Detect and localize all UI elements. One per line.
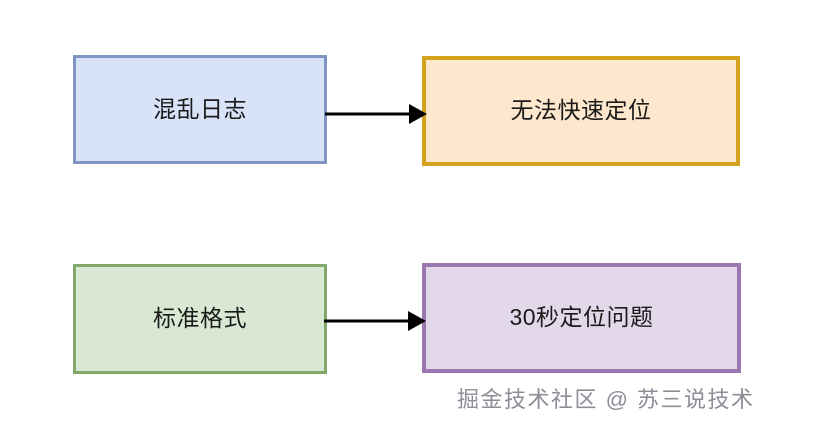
node-chaotic-logs[interactable]: 混乱日志: [73, 55, 327, 164]
edge-standard-format-to-locate-in-30s: [324, 302, 426, 340]
node-label: 标准格式: [153, 305, 247, 333]
node-standard-format[interactable]: 标准格式: [73, 264, 327, 374]
watermark: 掘金技术社区 @ 苏三说技术: [457, 381, 802, 415]
diagram-canvas: 混乱日志 无法快速定位 标准格式 30秒定位问题 掘金技术社区 @ 苏三说技术: [0, 0, 816, 424]
node-cannot-locate[interactable]: 无法快速定位: [422, 56, 740, 166]
node-label: 混乱日志: [153, 96, 247, 124]
arrowhead-icon: [409, 104, 427, 124]
edge-chaotic-logs-to-cannot-locate: [325, 95, 427, 133]
node-locate-in-30s[interactable]: 30秒定位问题: [422, 263, 741, 373]
watermark-text: 掘金技术社区 @ 苏三说技术: [457, 382, 755, 414]
arrowhead-icon: [408, 311, 426, 331]
node-label: 30秒定位问题: [509, 304, 653, 332]
node-label: 无法快速定位: [511, 97, 652, 125]
